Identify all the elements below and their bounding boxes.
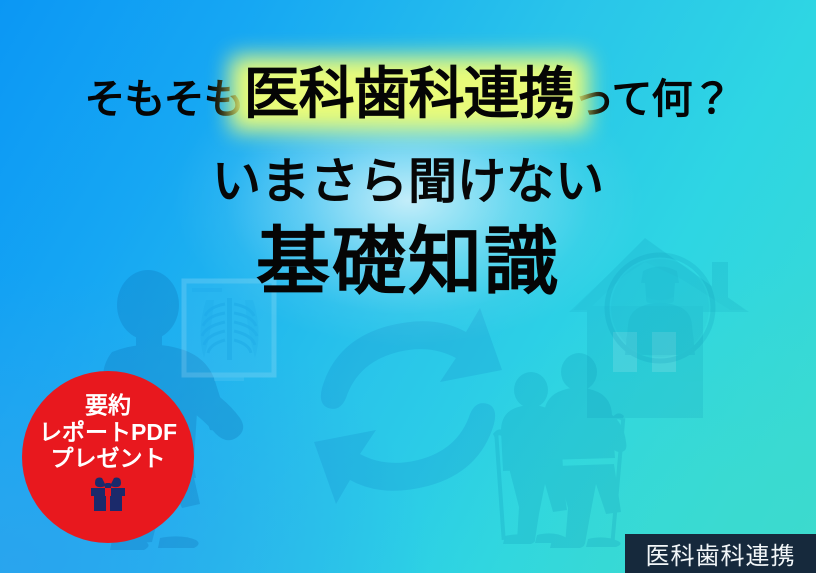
bottom-right-label-text: 医科歯科連携 (646, 536, 796, 571)
bottom-right-label: 医科歯科連携 (625, 534, 816, 573)
gift-offer-badge[interactable]: 要約 レポートPDF プレゼント (22, 371, 194, 543)
badge-line-present: プレゼント (51, 445, 166, 472)
thumbnail-canvas: そもそも医科歯科連携って何？ いまさら聞けない 基礎知識 要約 レポートPDF … (0, 0, 816, 573)
badge-line-summary: 要約 (85, 392, 131, 419)
gift-box-icon (88, 476, 128, 517)
badge-line-report-pdf: レポートPDF (39, 419, 177, 446)
